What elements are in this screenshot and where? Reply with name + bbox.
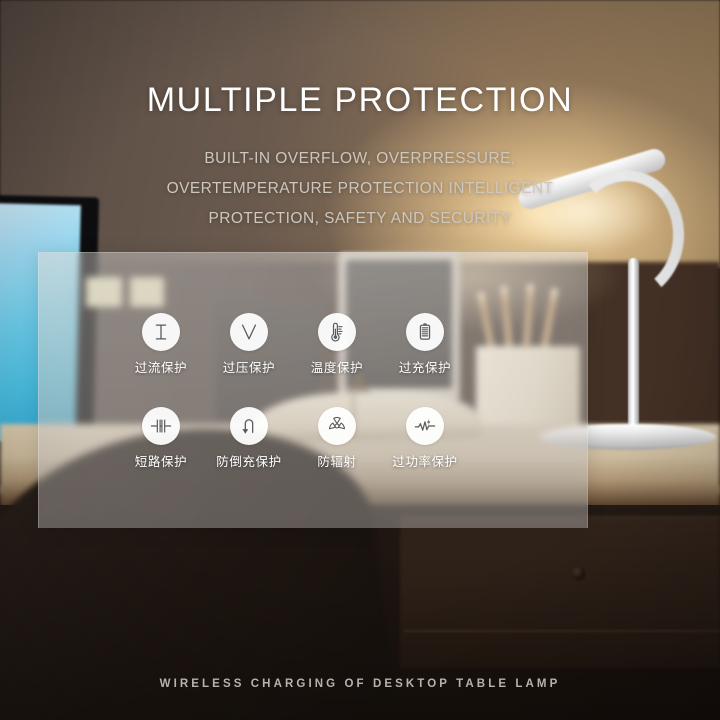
waveform-icon [406,407,444,445]
feature-panel: 过流保护过压保护温度保护过充保护短路保护防倒充保护防辐射过功率保护 [38,252,588,528]
drawer-knob [572,567,585,580]
radiation-icon [318,407,356,445]
voltage-v-icon [230,313,268,351]
subtitle-block: BUILT-IN OVERFLOW, OVERPRESSURE, OVERTEM… [120,144,600,234]
subtitle-line-2: OVERTEMPERATURE PROTECTION INTELLIGENT [120,174,600,204]
feature-label: 过充保护 [370,357,480,376]
footer-caption: WIRELESS CHARGING OF DESKTOP TABLE LAMP [0,678,720,690]
capacitor-icon [142,407,180,445]
battery-icon [406,313,444,351]
feature-grid: 过流保护过压保护温度保护过充保护短路保护防倒充保护防辐射过功率保护 [39,253,587,528]
desk-drawer [400,516,720,668]
drawer-seam [404,630,720,632]
feature-item: 过功率保护 [370,407,480,470]
subtitle-line-1: BUILT-IN OVERFLOW, OVERPRESSURE, [120,144,600,174]
thermometer-icon [318,313,356,351]
subtitle-line-3: PROTECTION, SAFETY AND SECURITY [120,204,600,234]
feature-item: 过充保护 [370,313,480,376]
page-title: MULTIPLE PROTECTION [0,83,720,117]
product-feature-poster: MULTIPLE PROTECTION BUILT-IN OVERFLOW, O… [0,0,720,720]
current-i-icon [142,313,180,351]
lamp-stem [628,258,639,434]
feature-label: 过功率保护 [370,451,480,470]
u-turn-arrow-icon [230,407,268,445]
